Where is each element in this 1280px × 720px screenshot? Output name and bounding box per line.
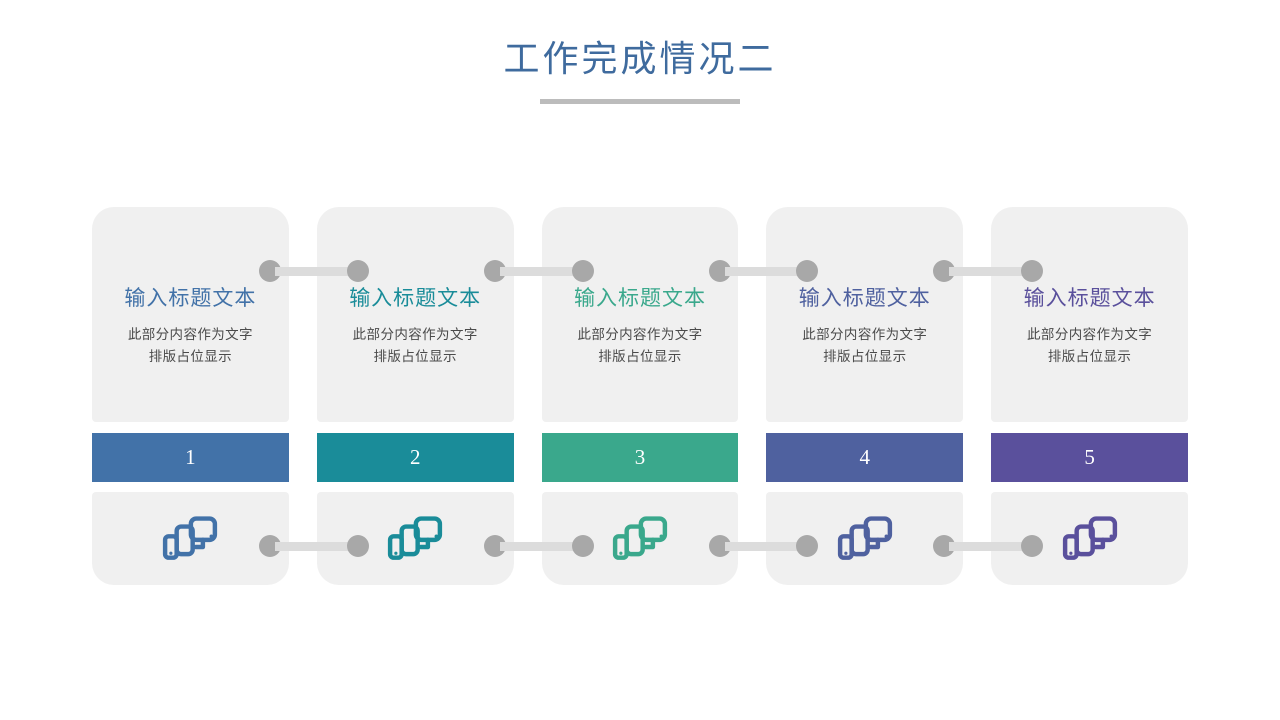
slide-canvas: { "slide": { "title": "工作完成情况二", "backgr… xyxy=(0,0,1280,720)
card-body-line-2: 排版占位显示 xyxy=(1003,346,1176,368)
card-body-line-2: 排版占位显示 xyxy=(329,346,502,368)
card-body: 此部分内容作为文字 排版占位显示 xyxy=(104,324,277,368)
card-body-line-1: 此部分内容作为文字 xyxy=(104,324,277,346)
card-body-line-1: 此部分内容作为文字 xyxy=(778,324,951,346)
card-body: 此部分内容作为文字 排版占位显示 xyxy=(329,324,502,368)
title-block: 工作完成情况二 xyxy=(0,38,1280,104)
card-icon-panel xyxy=(766,492,963,585)
card-title: 输入标题文本 xyxy=(778,285,951,311)
process-card-2[interactable]: 输入标题文本 此部分内容作为文字 排版占位显示 2 xyxy=(317,207,514,585)
card-text-panel: 输入标题文本 此部分内容作为文字 排版占位显示 xyxy=(92,207,289,422)
card-body: 此部分内容作为文字 排版占位显示 xyxy=(778,324,951,368)
card-number: 4 xyxy=(860,445,871,470)
responsive-devices-icon xyxy=(1061,515,1119,563)
card-body: 此部分内容作为文字 排版占位显示 xyxy=(1003,324,1176,368)
card-number-bar[interactable]: 3 xyxy=(542,433,739,482)
card-text-panel: 输入标题文本 此部分内容作为文字 排版占位显示 xyxy=(991,207,1188,422)
process-card-5[interactable]: 输入标题文本 此部分内容作为文字 排版占位显示 5 xyxy=(991,207,1188,585)
card-title: 输入标题文本 xyxy=(1003,285,1176,311)
title-underline-rule xyxy=(540,99,740,104)
card-number-bar[interactable]: 2 xyxy=(317,433,514,482)
card-text-panel: 输入标题文本 此部分内容作为文字 排版占位显示 xyxy=(317,207,514,422)
process-card-3[interactable]: 输入标题文本 此部分内容作为文字 排版占位显示 3 xyxy=(542,207,739,585)
card-body-line-2: 排版占位显示 xyxy=(554,346,727,368)
card-body-line-1: 此部分内容作为文字 xyxy=(554,324,727,346)
card-number-bar[interactable]: 4 xyxy=(766,433,963,482)
card-icon-panel xyxy=(991,492,1188,585)
process-card-1[interactable]: 输入标题文本 此部分内容作为文字 排版占位显示 1 xyxy=(92,207,289,585)
page-title: 工作完成情况二 xyxy=(0,38,1280,81)
responsive-devices-icon xyxy=(611,515,669,563)
card-number-bar[interactable]: 5 xyxy=(991,433,1188,482)
card-body-line-1: 此部分内容作为文字 xyxy=(329,324,502,346)
card-number: 3 xyxy=(635,445,646,470)
process-card-strip: 输入标题文本 此部分内容作为文字 排版占位显示 1 输入标题文本 xyxy=(92,207,1188,585)
card-title: 输入标题文本 xyxy=(554,285,727,311)
card-icon-panel xyxy=(317,492,514,585)
card-title: 输入标题文本 xyxy=(329,285,502,311)
card-number-bar[interactable]: 1 xyxy=(92,433,289,482)
card-title: 输入标题文本 xyxy=(104,285,277,311)
card-text-panel: 输入标题文本 此部分内容作为文字 排版占位显示 xyxy=(542,207,739,422)
card-text-panel: 输入标题文本 此部分内容作为文字 排版占位显示 xyxy=(766,207,963,422)
card-body: 此部分内容作为文字 排版占位显示 xyxy=(554,324,727,368)
process-card-4[interactable]: 输入标题文本 此部分内容作为文字 排版占位显示 4 xyxy=(766,207,963,585)
card-icon-panel xyxy=(92,492,289,585)
card-number: 2 xyxy=(410,445,421,470)
card-body-line-2: 排版占位显示 xyxy=(778,346,951,368)
card-body-line-1: 此部分内容作为文字 xyxy=(1003,324,1176,346)
responsive-devices-icon xyxy=(836,515,894,563)
responsive-devices-icon xyxy=(161,515,219,563)
card-icon-panel xyxy=(542,492,739,585)
card-body-line-2: 排版占位显示 xyxy=(104,346,277,368)
card-number: 5 xyxy=(1084,445,1095,470)
card-number: 1 xyxy=(185,445,196,470)
responsive-devices-icon xyxy=(386,515,444,563)
